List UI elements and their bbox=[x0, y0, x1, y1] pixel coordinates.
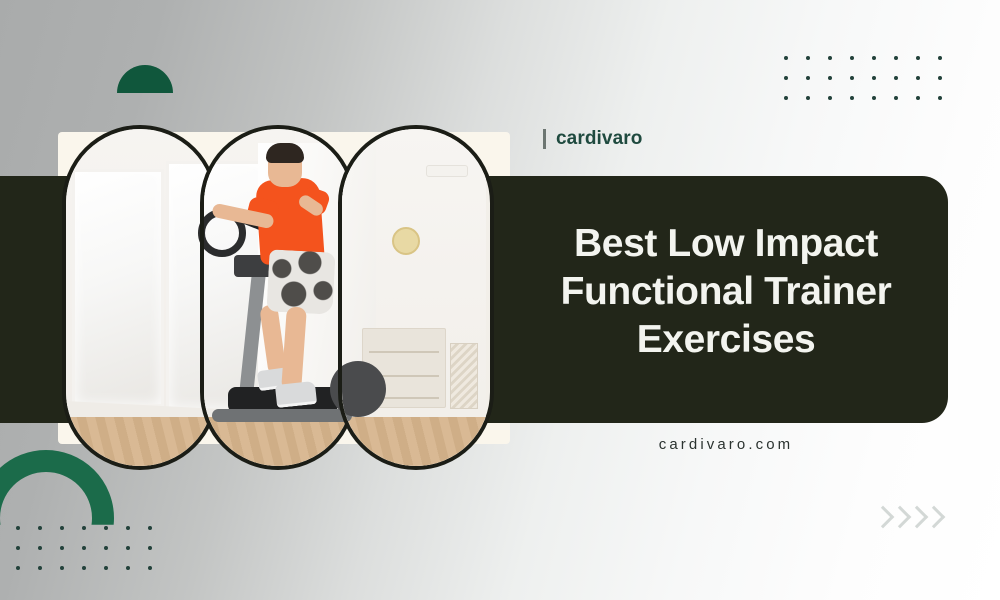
room-scene bbox=[200, 125, 356, 470]
dot bbox=[938, 88, 960, 108]
chevron-right-icon bbox=[891, 505, 904, 531]
dot-grid-bottom-left bbox=[16, 518, 170, 578]
site-url[interactable]: cardivaro.com bbox=[520, 436, 932, 453]
dot bbox=[806, 88, 828, 108]
dot bbox=[82, 558, 104, 578]
half-dome-shape-icon bbox=[117, 65, 173, 93]
dot bbox=[850, 68, 872, 88]
dot bbox=[938, 48, 960, 68]
dot bbox=[872, 68, 894, 88]
dot bbox=[60, 558, 82, 578]
dot bbox=[872, 88, 894, 108]
shorts bbox=[266, 249, 335, 314]
brand-logo[interactable]: cardivaro bbox=[543, 128, 642, 150]
headline-line-2: Functional Trainer bbox=[520, 268, 932, 316]
dot bbox=[16, 538, 38, 558]
dot bbox=[126, 518, 148, 538]
dot bbox=[828, 48, 850, 68]
athlete bbox=[338, 125, 486, 470]
dot bbox=[126, 538, 148, 558]
dot bbox=[850, 88, 872, 108]
photo-slice bbox=[62, 125, 218, 470]
shoe-front bbox=[275, 381, 317, 408]
dot bbox=[938, 68, 960, 88]
dot bbox=[916, 48, 938, 68]
dot bbox=[828, 68, 850, 88]
dot bbox=[82, 538, 104, 558]
athlete bbox=[200, 125, 356, 470]
dot bbox=[104, 558, 126, 578]
dot bbox=[872, 48, 894, 68]
dot bbox=[916, 68, 938, 88]
hero-photo bbox=[62, 125, 494, 470]
dot bbox=[16, 558, 38, 578]
dot bbox=[784, 48, 806, 68]
photo-arch-center bbox=[200, 125, 356, 470]
dot bbox=[850, 48, 872, 68]
leg-front bbox=[281, 306, 307, 391]
dot bbox=[38, 538, 60, 558]
chevron-right-icon bbox=[874, 505, 887, 531]
dot bbox=[148, 518, 170, 538]
dot bbox=[806, 48, 828, 68]
chevron-arrows-group bbox=[874, 505, 938, 531]
headline-line-1: Best Low Impact bbox=[520, 220, 932, 268]
dot bbox=[916, 88, 938, 108]
dot bbox=[894, 88, 916, 108]
hair bbox=[266, 143, 304, 163]
dot-grid-top-right bbox=[784, 48, 960, 108]
chevron-right-icon bbox=[908, 505, 921, 531]
headline-line-3: Exercises bbox=[520, 316, 932, 364]
dot bbox=[784, 88, 806, 108]
dot bbox=[148, 558, 170, 578]
room-scene bbox=[62, 125, 218, 470]
logo-accent-bar-icon bbox=[543, 129, 546, 149]
page-title: Best Low Impact Functional Trainer Exerc… bbox=[520, 220, 932, 364]
dot bbox=[894, 48, 916, 68]
photo-slice bbox=[338, 125, 486, 470]
athlete bbox=[62, 125, 218, 470]
logo-text: cardivaro bbox=[556, 128, 642, 150]
dot bbox=[894, 68, 916, 88]
dot bbox=[60, 538, 82, 558]
dot bbox=[784, 68, 806, 88]
photo-arch-right bbox=[338, 125, 494, 470]
banner-canvas: cardivaro Best Low Impact Functional Tra… bbox=[0, 0, 1000, 600]
photo-slice bbox=[200, 125, 356, 470]
room-scene bbox=[338, 125, 486, 470]
photo-arch-left bbox=[62, 125, 218, 470]
dot bbox=[126, 558, 148, 578]
dot bbox=[806, 68, 828, 88]
chevron-right-icon bbox=[925, 505, 938, 531]
dot bbox=[38, 558, 60, 578]
dot bbox=[104, 538, 126, 558]
dot bbox=[148, 538, 170, 558]
dot bbox=[828, 88, 850, 108]
